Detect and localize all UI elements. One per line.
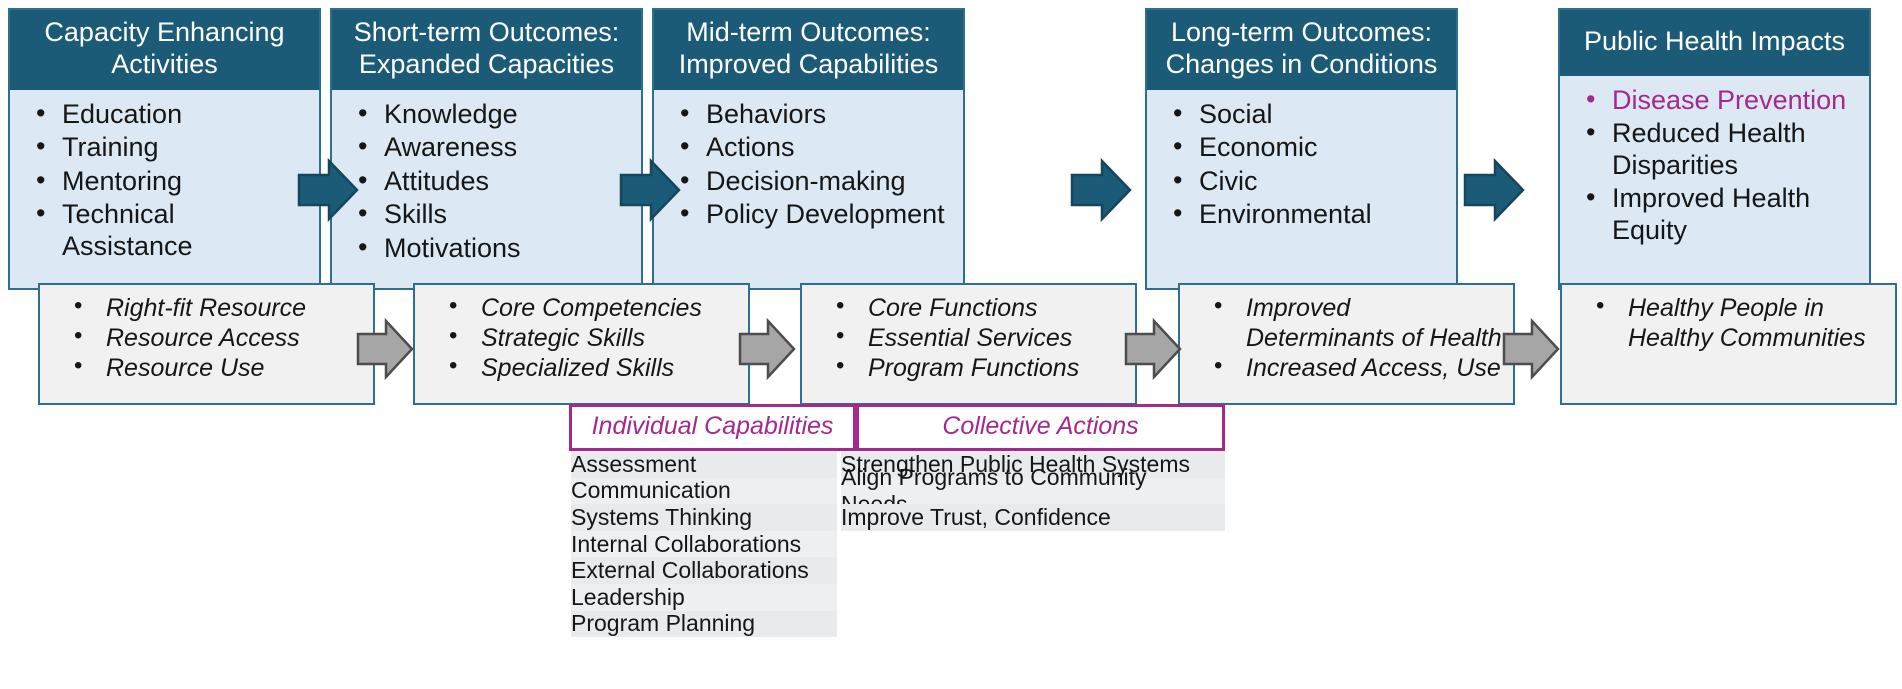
list-item: Strategic Skills [415,324,738,354]
sub-bullet-list-5: Healthy People in Healthy Communities [1562,285,1895,363]
list-item: Motivations [332,233,641,264]
stage-header-1: Capacity Enhancing Activities [10,10,319,90]
arrow-sub2-to-sub3 [738,318,796,380]
stage-body-1: Education Training Mentoring Technical A… [10,90,319,288]
capability-column-individual: Assessment Communication Systems Thinkin… [569,451,837,637]
list-item: Skills [332,199,641,230]
capability-table: Individual Capabilities Collective Actio… [569,404,1225,637]
table-row: Leadership [571,584,837,611]
list-item: Behaviors [654,99,963,130]
list-item: Policy Development [654,199,963,230]
table-row: Internal Collaborations [571,531,837,558]
stage-box-4[interactable]: Long-term Outcomes: Changes in Condition… [1145,8,1458,290]
stage-box-5[interactable]: Public Health Impacts Disease Prevention… [1558,8,1871,290]
list-item: Education [10,99,319,130]
capability-column-header-individual[interactable]: Individual Capabilities [569,404,856,451]
stage-bullet-list-3: Behaviors Actions Decision-making Policy… [654,99,963,231]
stage-bullet-list-1: Education Training Mentoring Technical A… [10,99,319,262]
stage-header-4: Long-term Outcomes: Changes in Condition… [1147,10,1456,90]
list-item: Environmental [1147,199,1456,230]
capability-column-collective: Strengthen Public Health Systems Align P… [837,451,1225,637]
sub-box-1[interactable]: Right-fit Resource Resource Access Resou… [38,283,375,405]
arrow-sub1-to-sub2 [356,318,414,380]
list-item: Social [1147,99,1456,130]
stage-box-1[interactable]: Capacity Enhancing Activities Education … [8,8,321,290]
sub-box-2[interactable]: Core Competencies Strategic Skills Speci… [413,283,750,405]
list-item: Essential Services [802,324,1125,354]
stage-bullet-list-5: Disease Prevention Reduced Health Dispar… [1560,85,1869,246]
table-row-spacer [841,531,1225,558]
stage-bullet-list-4: Social Economic Civic Environmental [1147,99,1456,231]
table-row: Assessment [571,451,837,478]
list-item: Actions [654,132,963,163]
sub-bullet-list-4: Improved Determinants of Health Increase… [1180,285,1513,392]
table-row-spacer [841,611,1225,638]
list-item: Right-fit Resource [40,294,363,324]
stage-body-4: Social Economic Civic Environmental [1147,90,1456,288]
sub-box-4[interactable]: Improved Determinants of Health Increase… [1178,283,1515,405]
list-item: Technical Assistance [10,199,319,262]
sub-bullet-list-2: Core Competencies Strategic Skills Speci… [415,285,748,392]
list-item: Disease Prevention [1560,85,1869,116]
sub-box-3[interactable]: Core Functions Essential Services Progra… [800,283,1137,405]
stage-header-2: Short-term Outcomes: Expanded Capacities [332,10,641,90]
sub-bullet-list-3: Core Functions Essential Services Progra… [802,285,1135,392]
list-item: Program Functions [802,354,1125,384]
list-item: Decision-making [654,166,963,197]
list-item: Core Functions [802,294,1125,324]
list-item: Healthy People in Healthy Communities [1562,294,1885,354]
list-item: Increased Access, Use [1180,354,1503,384]
stage-box-2[interactable]: Short-term Outcomes: Expanded Capacities… [330,8,643,290]
list-item: Improved Determinants of Health [1180,294,1503,354]
list-item: Reduced Health Disparities [1560,118,1869,181]
arrow-sub4-to-sub5 [1502,318,1560,380]
list-item: Training [10,132,319,163]
list-item: Attitudes [332,166,641,197]
table-row-spacer [841,557,1225,584]
stage-body-3: Behaviors Actions Decision-making Policy… [654,90,963,288]
stage-bullet-list-2: Knowledge Awareness Attitudes Skills Mot… [332,99,641,264]
list-item: Resource Use [40,354,363,384]
list-item: Awareness [332,132,641,163]
table-row: Align Programs to Community Needs [841,478,1225,505]
sub-box-5[interactable]: Healthy People in Healthy Communities [1560,283,1897,405]
capability-column-header-collective[interactable]: Collective Actions [856,404,1225,451]
arrow-stage2-to-stage3 [619,158,681,223]
list-item: Specialized Skills [415,354,738,384]
list-item: Economic [1147,132,1456,163]
sub-bullet-list-1: Right-fit Resource Resource Access Resou… [40,285,373,392]
logic-model-diagram: Capacity Enhancing Activities Education … [0,0,1902,689]
capability-table-body: Assessment Communication Systems Thinkin… [569,451,1225,637]
list-item: Core Competencies [415,294,738,324]
stage-body-2: Knowledge Awareness Attitudes Skills Mot… [332,90,641,288]
arrow-stage3-to-stage4 [1070,158,1132,223]
stage-box-3[interactable]: Mid-term Outcomes: Improved Capabilities… [652,8,965,290]
stage-header-5: Public Health Impacts [1560,10,1869,76]
list-item: Civic [1147,166,1456,197]
list-item: Improved Health Equity [1560,183,1869,246]
table-row: Communication [571,478,837,505]
list-item: Knowledge [332,99,641,130]
capability-table-header-row: Individual Capabilities Collective Actio… [569,404,1225,451]
table-row: External Collaborations [571,557,837,584]
table-row: Systems Thinking [571,504,837,531]
table-row-spacer [841,584,1225,611]
arrow-sub3-to-sub4 [1124,318,1182,380]
table-row: Improve Trust, Confidence [841,504,1225,531]
arrow-stage1-to-stage2 [297,158,359,223]
list-item: Resource Access [40,324,363,354]
list-item: Mentoring [10,166,319,197]
stage-body-5: Disease Prevention Reduced Health Dispar… [1560,76,1869,288]
arrow-stage4-to-stage5 [1463,158,1525,223]
table-row: Program Planning [571,611,837,638]
stage-header-3: Mid-term Outcomes: Improved Capabilities [654,10,963,90]
